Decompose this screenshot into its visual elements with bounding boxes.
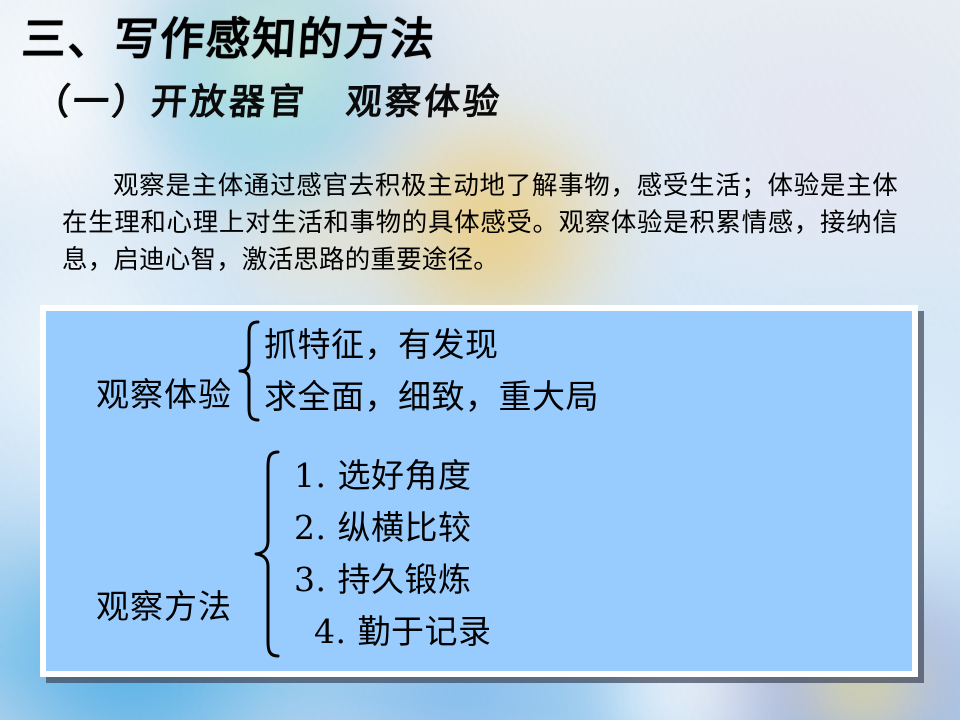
content-panel-inner: 观察体验 抓特征，有发现 求全面，细致，重大局 观察方法 1. 选好角度 2. … — [46, 311, 912, 671]
brace-icon-observe — [236, 319, 262, 423]
body-paragraph: 观察是主体通过感官去积极主动地了解事物，感受生活；体验是主体在生理和心理上对生活… — [62, 168, 898, 279]
list-item: 4. 勤于记录 — [294, 606, 491, 658]
slide: 三、写作感知的方法 （一）开放器官 观察体验 观察是主体通过感官去积极主动地了解… — [0, 0, 960, 720]
group-method: 观察方法 1. 选好角度 2. 纵横比较 3. 持久锻炼 4. 勤于记录 — [96, 449, 491, 659]
brace-icon-method — [252, 449, 282, 659]
content-panel: 观察体验 抓特征，有发现 求全面，细致，重大局 观察方法 1. 选好角度 2. … — [40, 305, 918, 677]
group-observe: 观察体验 抓特征，有发现 求全面，细致，重大局 — [96, 319, 599, 423]
list-item: 抓特征，有发现 — [264, 319, 599, 371]
list-item: 3. 持久锻炼 — [294, 554, 491, 606]
group-observe-label: 观察体验 — [96, 332, 232, 411]
list-item: 2. 纵横比较 — [294, 502, 491, 554]
list-item: 求全面，细致，重大局 — [264, 371, 599, 423]
group-method-label: 观察方法 — [96, 486, 232, 623]
slide-subtitle: （一）开放器官 观察体验 — [32, 85, 503, 121]
slide-title: 三、写作感知的方法 — [20, 18, 437, 63]
group-method-items: 1. 选好角度 2. 纵横比较 3. 持久锻炼 4. 勤于记录 — [284, 450, 491, 658]
list-item: 1. 选好角度 — [294, 450, 491, 502]
group-observe-items: 抓特征，有发现 求全面，细致，重大局 — [264, 319, 599, 423]
